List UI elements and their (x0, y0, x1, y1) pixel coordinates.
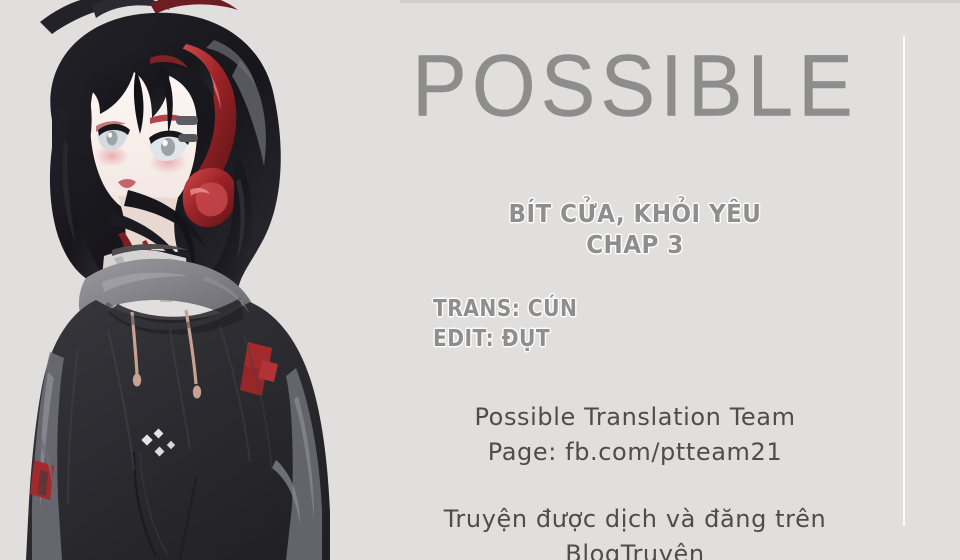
host-note-group: Truyện được dịch và đăng trên BlogTruyện (400, 502, 870, 560)
credits-panel: POSSIBLE BÍT CỬA, KHỎI YÊU CHAP 3 TRANS:… (400, 0, 960, 560)
team-info-group: Possible Translation Team Page: fb.com/p… (400, 400, 870, 470)
possible-wordmark-text: POSSIBLE (412, 38, 858, 136)
vertical-divider-rule (903, 36, 905, 526)
host-note-line-1: Truyện được dịch và đăng trên (400, 502, 870, 537)
team-page-url: Page: fb.com/ptteam21 (400, 435, 870, 470)
chapter-title-line-2: CHAP 3 (419, 229, 851, 260)
chapter-title-block: BÍT CỬA, KHỎI YÊU CHAP 3 (419, 198, 851, 260)
team-footer-block: Possible Translation Team Page: fb.com/p… (400, 400, 870, 560)
staff-credits-block: TRANS: CÚN EDIT: ĐỤT (433, 294, 803, 354)
team-name: Possible Translation Team (400, 400, 870, 435)
chapter-title-line-1: BÍT CỬA, KHỎI YÊU (419, 198, 851, 229)
possible-wordmark: POSSIBLE (400, 38, 870, 136)
hoodie-body (26, 300, 330, 560)
translator-credit: TRANS: CÚN (433, 294, 803, 324)
host-note-line-2: BlogTruyện (400, 537, 870, 560)
character-illustration (0, 0, 400, 560)
editor-credit: EDIT: ĐỤT (433, 324, 803, 354)
manga-credits-page: POSSIBLE BÍT CỬA, KHỎI YÊU CHAP 3 TRANS:… (0, 0, 960, 560)
